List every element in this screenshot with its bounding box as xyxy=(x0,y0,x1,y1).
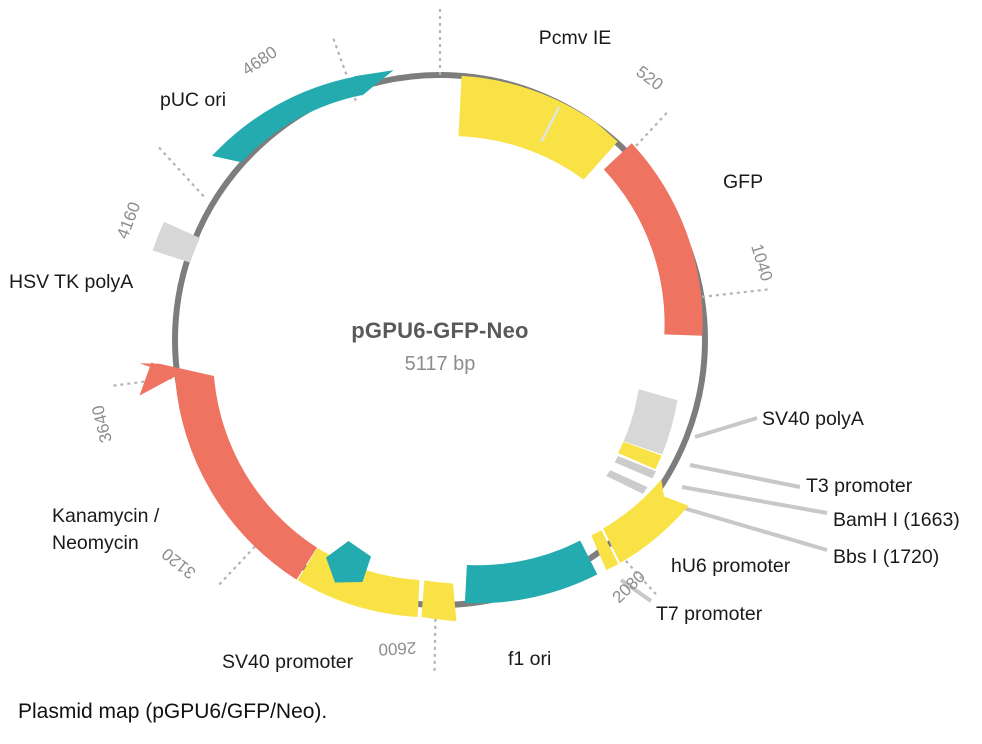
leader-line-sv40-polya xyxy=(695,418,757,437)
tick-mark-1040 xyxy=(702,289,768,297)
feature-shape-gfp[interactable] xyxy=(604,143,703,335)
feature-gfp[interactable]: GFP 1040 520 xyxy=(604,62,777,336)
tick-label-2080: 2080 xyxy=(609,567,649,607)
feature-label-sv40-promoter: SV40 promoter xyxy=(222,651,354,673)
tick-label-520: 520 xyxy=(633,62,667,94)
figure-caption: Plasmid map (pGPU6/GFP/Neo). xyxy=(18,700,327,724)
tick-label-1040: 1040 xyxy=(747,242,776,284)
plasmid-map-figure: Pcmv IE GFP 1040 520 SV40 polyA T3 promo… xyxy=(0,0,982,744)
feature-label-f1-ori: f1 ori xyxy=(508,648,551,670)
feature-label-hsv-tk-polya: HSV TK polyA xyxy=(9,271,133,293)
tick-label-3640: 3640 xyxy=(88,403,116,444)
page-title: pGPU6-GFP-Neo xyxy=(351,318,528,343)
plasmid-map-svg: Pcmv IE GFP 1040 520 SV40 polyA T3 promo… xyxy=(0,0,982,744)
leader-line-bbsi xyxy=(673,505,827,550)
feature-kanamycin-neomycin[interactable]: Kanamycin / Neomycin 3120 3640 xyxy=(52,363,317,583)
feature-label-hu6-promoter: hU6 promoter xyxy=(671,555,791,577)
feature-label-gfp: GFP xyxy=(723,171,763,193)
tick-label-2600: 2600 xyxy=(378,638,417,659)
feature-hu6-promoter[interactable]: hU6 promoter xyxy=(603,479,791,577)
feature-label-t3-promoter: T3 promoter xyxy=(806,475,913,497)
feature-shape-hu6-promoter[interactable] xyxy=(603,479,689,563)
feature-shape-hsv-tk-polya[interactable] xyxy=(153,222,200,263)
feature-label-bamhi: BamH I (1663) xyxy=(833,509,960,531)
feature-puc-ori[interactable]: pUC ori 4680 xyxy=(160,42,394,162)
feature-hsv-tk-polya[interactable]: HSV TK polyA 4160 xyxy=(9,199,200,293)
feature-shape-kanamycin-body[interactable] xyxy=(139,363,317,579)
feature-unnamed-arrow[interactable] xyxy=(421,580,456,621)
feature-sv40-polya[interactable]: SV40 polyA xyxy=(624,389,864,454)
feature-label-kanamycin-line2: Neomycin xyxy=(52,532,139,554)
feature-label-bbsi: Bbs I (1720) xyxy=(833,546,939,568)
feature-pcmv-ie[interactable]: Pcmv IE xyxy=(459,27,618,180)
feature-shape-f1-ori[interactable] xyxy=(465,541,597,604)
plasmid-size-label: 5117 bp xyxy=(405,353,476,375)
leader-line-t3-promoter xyxy=(690,465,800,487)
tick-label-4160: 4160 xyxy=(113,199,144,241)
tick-label-4680: 4680 xyxy=(239,42,281,79)
feature-label-kanamycin-line1: Kanamycin / xyxy=(52,505,160,527)
feature-label-puc-ori: pUC ori xyxy=(160,89,226,111)
feature-shape-sv40-polya[interactable] xyxy=(624,389,678,454)
feature-label-t7-promoter: T7 promoter xyxy=(656,603,763,625)
feature-label-pcmv-ie: Pcmv IE xyxy=(539,27,612,49)
tick-mark-4160 xyxy=(159,147,204,196)
feature-label-sv40-polya: SV40 polyA xyxy=(762,408,864,430)
tick-label-3120: 3120 xyxy=(158,544,199,583)
feature-shape-unnamed-arrow[interactable] xyxy=(421,580,456,621)
